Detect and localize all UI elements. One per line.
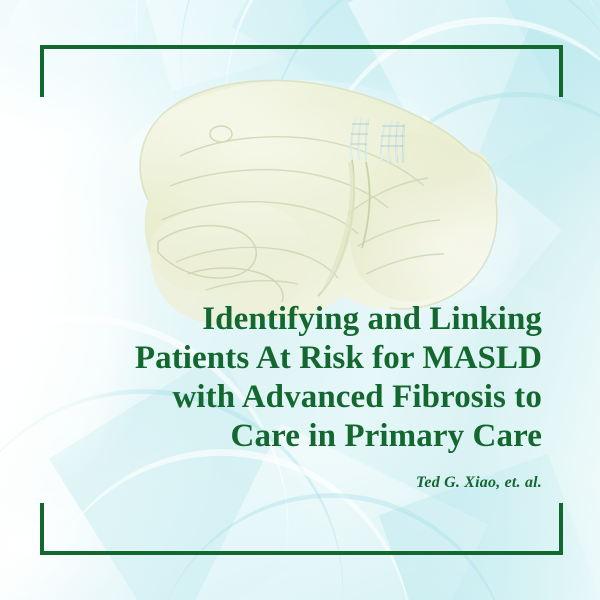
title-block: Identifying and Linking Patients At Risk… <box>60 300 542 492</box>
author-line: Ted G. Xiao, et. al. <box>60 474 542 492</box>
bracket-top-line <box>108 45 495 49</box>
bracket-bottom-line <box>108 551 495 555</box>
title-line-4: Care in Primary Care <box>60 417 542 456</box>
bracket-top-left <box>40 45 110 97</box>
poster-canvas: Identifying and Linking Patients At Risk… <box>0 0 600 600</box>
bracket-top-right <box>493 45 563 97</box>
bracket-bottom-left <box>40 503 110 555</box>
page-title: Identifying and Linking Patients At Risk… <box>60 300 542 456</box>
title-line-1: Identifying and Linking <box>60 300 542 339</box>
title-line-3: with Advanced Fibrosis to <box>60 378 542 417</box>
title-line-2: Patients At Risk for MASLD <box>60 339 542 378</box>
bracket-bottom-right <box>493 503 563 555</box>
